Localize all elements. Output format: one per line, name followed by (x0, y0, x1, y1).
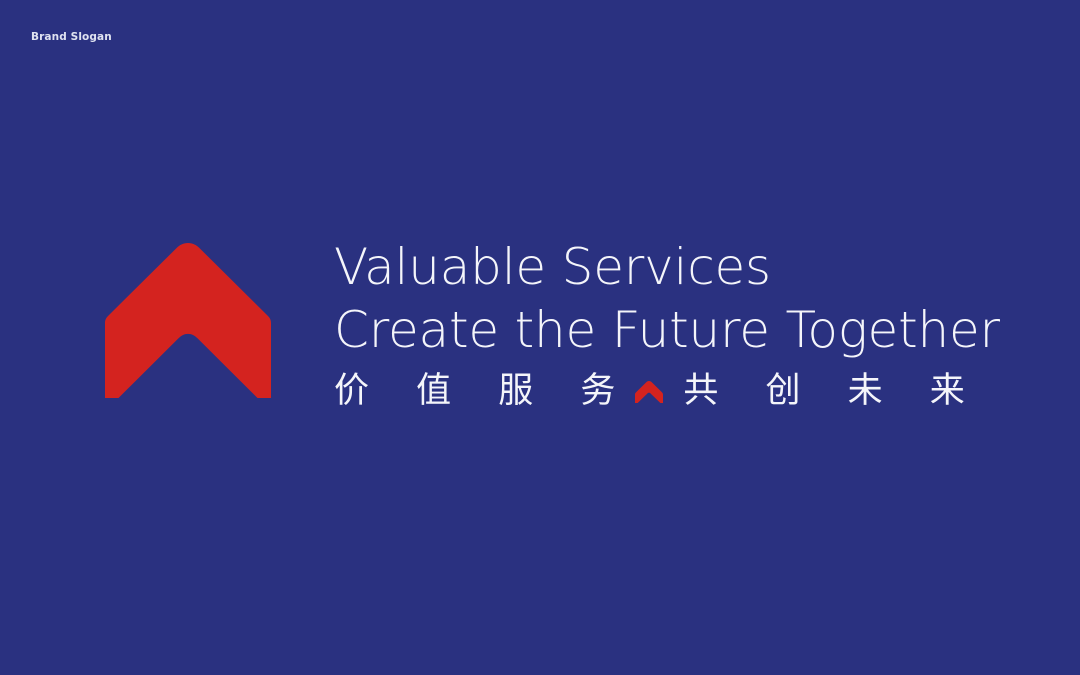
chinese-strapline-left: 价 值 服 务 (334, 371, 633, 411)
chinese-strapline-right: 共 创 未 来 (683, 371, 982, 411)
chevron-up-small-icon (635, 381, 663, 403)
corner-caption-brand-slogan: Brand Slogan (31, 30, 112, 44)
chevron-up-logo-mark-icon (105, 243, 271, 398)
brand-lockup: Valuable Services Create the Future Toge… (105, 236, 975, 406)
headline-line-2: Create the Future Together (334, 299, 974, 362)
chinese-strapline: 价 值 服 务 共 创 未 来 (334, 371, 974, 411)
slogan-text-block: Valuable Services Create the Future Toge… (334, 236, 974, 411)
brand-slogan-slide: Brand Slogan Valuable Services Create th… (0, 0, 1080, 675)
headline-line-1: Valuable Services (334, 236, 974, 299)
